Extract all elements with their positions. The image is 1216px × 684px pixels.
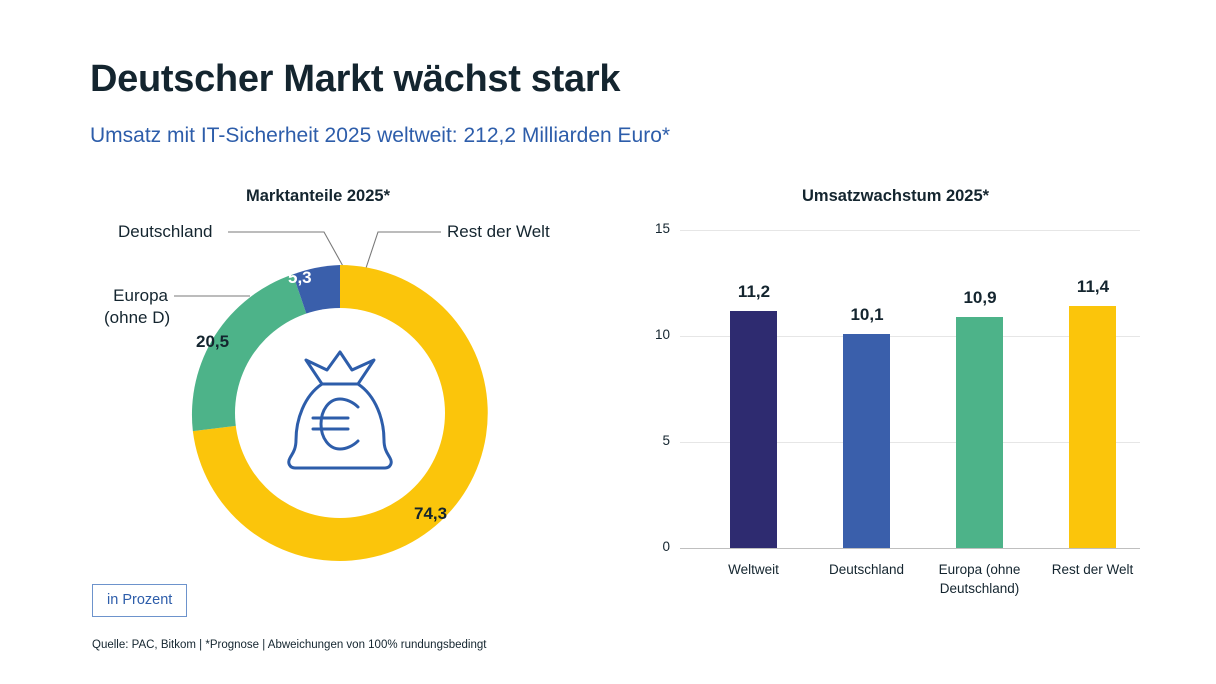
gridline-15 bbox=[680, 230, 1140, 231]
page-subtitle: Umsatz mit IT-Sicherheit 2025 weltweit: … bbox=[90, 124, 670, 148]
bar-column: 11,2 bbox=[730, 311, 777, 548]
x-category-line: Europa (ohne bbox=[922, 560, 1038, 579]
x-category-line: Weltweit bbox=[696, 560, 812, 579]
x-category-label: Europa (ohneDeutschland) bbox=[922, 560, 1038, 598]
bar-1 bbox=[843, 334, 890, 548]
x-category-line: Rest der Welt bbox=[1035, 560, 1151, 579]
donut-label-rest-der-welt: Rest der Welt bbox=[447, 221, 550, 243]
x-category-label: Weltweit bbox=[696, 560, 812, 579]
bar-value-label: 10,9 bbox=[940, 288, 1020, 308]
unit-badge: in Prozent bbox=[92, 584, 187, 617]
bar-column: 10,1 bbox=[843, 334, 890, 548]
y-tick-label: 15 bbox=[640, 221, 670, 236]
bar-value-label: 11,2 bbox=[714, 282, 794, 302]
y-tick-label: 10 bbox=[640, 327, 670, 342]
donut-label-europa-line1: Europa bbox=[104, 285, 168, 307]
x-category-line: Deutschland) bbox=[922, 579, 1038, 598]
bar-column: 11,4 bbox=[1069, 306, 1116, 548]
source-note: Quelle: PAC, Bitkom | *Prognose | Abweic… bbox=[92, 639, 486, 651]
donut-label-deutschland: Deutschland bbox=[118, 221, 213, 243]
bar-value-label: 11,4 bbox=[1053, 277, 1133, 297]
money-bag-euro-icon bbox=[286, 348, 394, 474]
x-category-line: Deutschland bbox=[809, 560, 925, 579]
bar-chart: 051015 11,210,110,911,4 WeltweitDeutschl… bbox=[640, 230, 1160, 630]
donut-value-deutschland: 5,3 bbox=[288, 268, 312, 288]
bar-value-label: 10,1 bbox=[827, 305, 907, 325]
bar-0 bbox=[730, 311, 777, 548]
donut-value-rest-der-welt: 74,3 bbox=[414, 504, 447, 524]
donut-chart-title: Marktanteile 2025* bbox=[246, 187, 390, 206]
x-category-label: Deutschland bbox=[809, 560, 925, 579]
y-tick-label: 0 bbox=[640, 539, 670, 554]
bar-chart-title: Umsatzwachstum 2025* bbox=[802, 187, 989, 206]
donut-value-europa: 20,5 bbox=[196, 332, 229, 352]
bar-2 bbox=[956, 317, 1003, 548]
bar-column: 10,9 bbox=[956, 317, 1003, 548]
donut-label-europa-line2: (ohne D) bbox=[104, 307, 168, 329]
y-tick-label: 5 bbox=[640, 433, 670, 448]
donut-label-europa: Europa (ohne D) bbox=[104, 285, 168, 329]
page-title: Deutscher Markt wächst stark bbox=[90, 58, 620, 101]
gridline-0 bbox=[680, 548, 1140, 549]
x-category-label: Rest der Welt bbox=[1035, 560, 1151, 579]
bar-3 bbox=[1069, 306, 1116, 548]
